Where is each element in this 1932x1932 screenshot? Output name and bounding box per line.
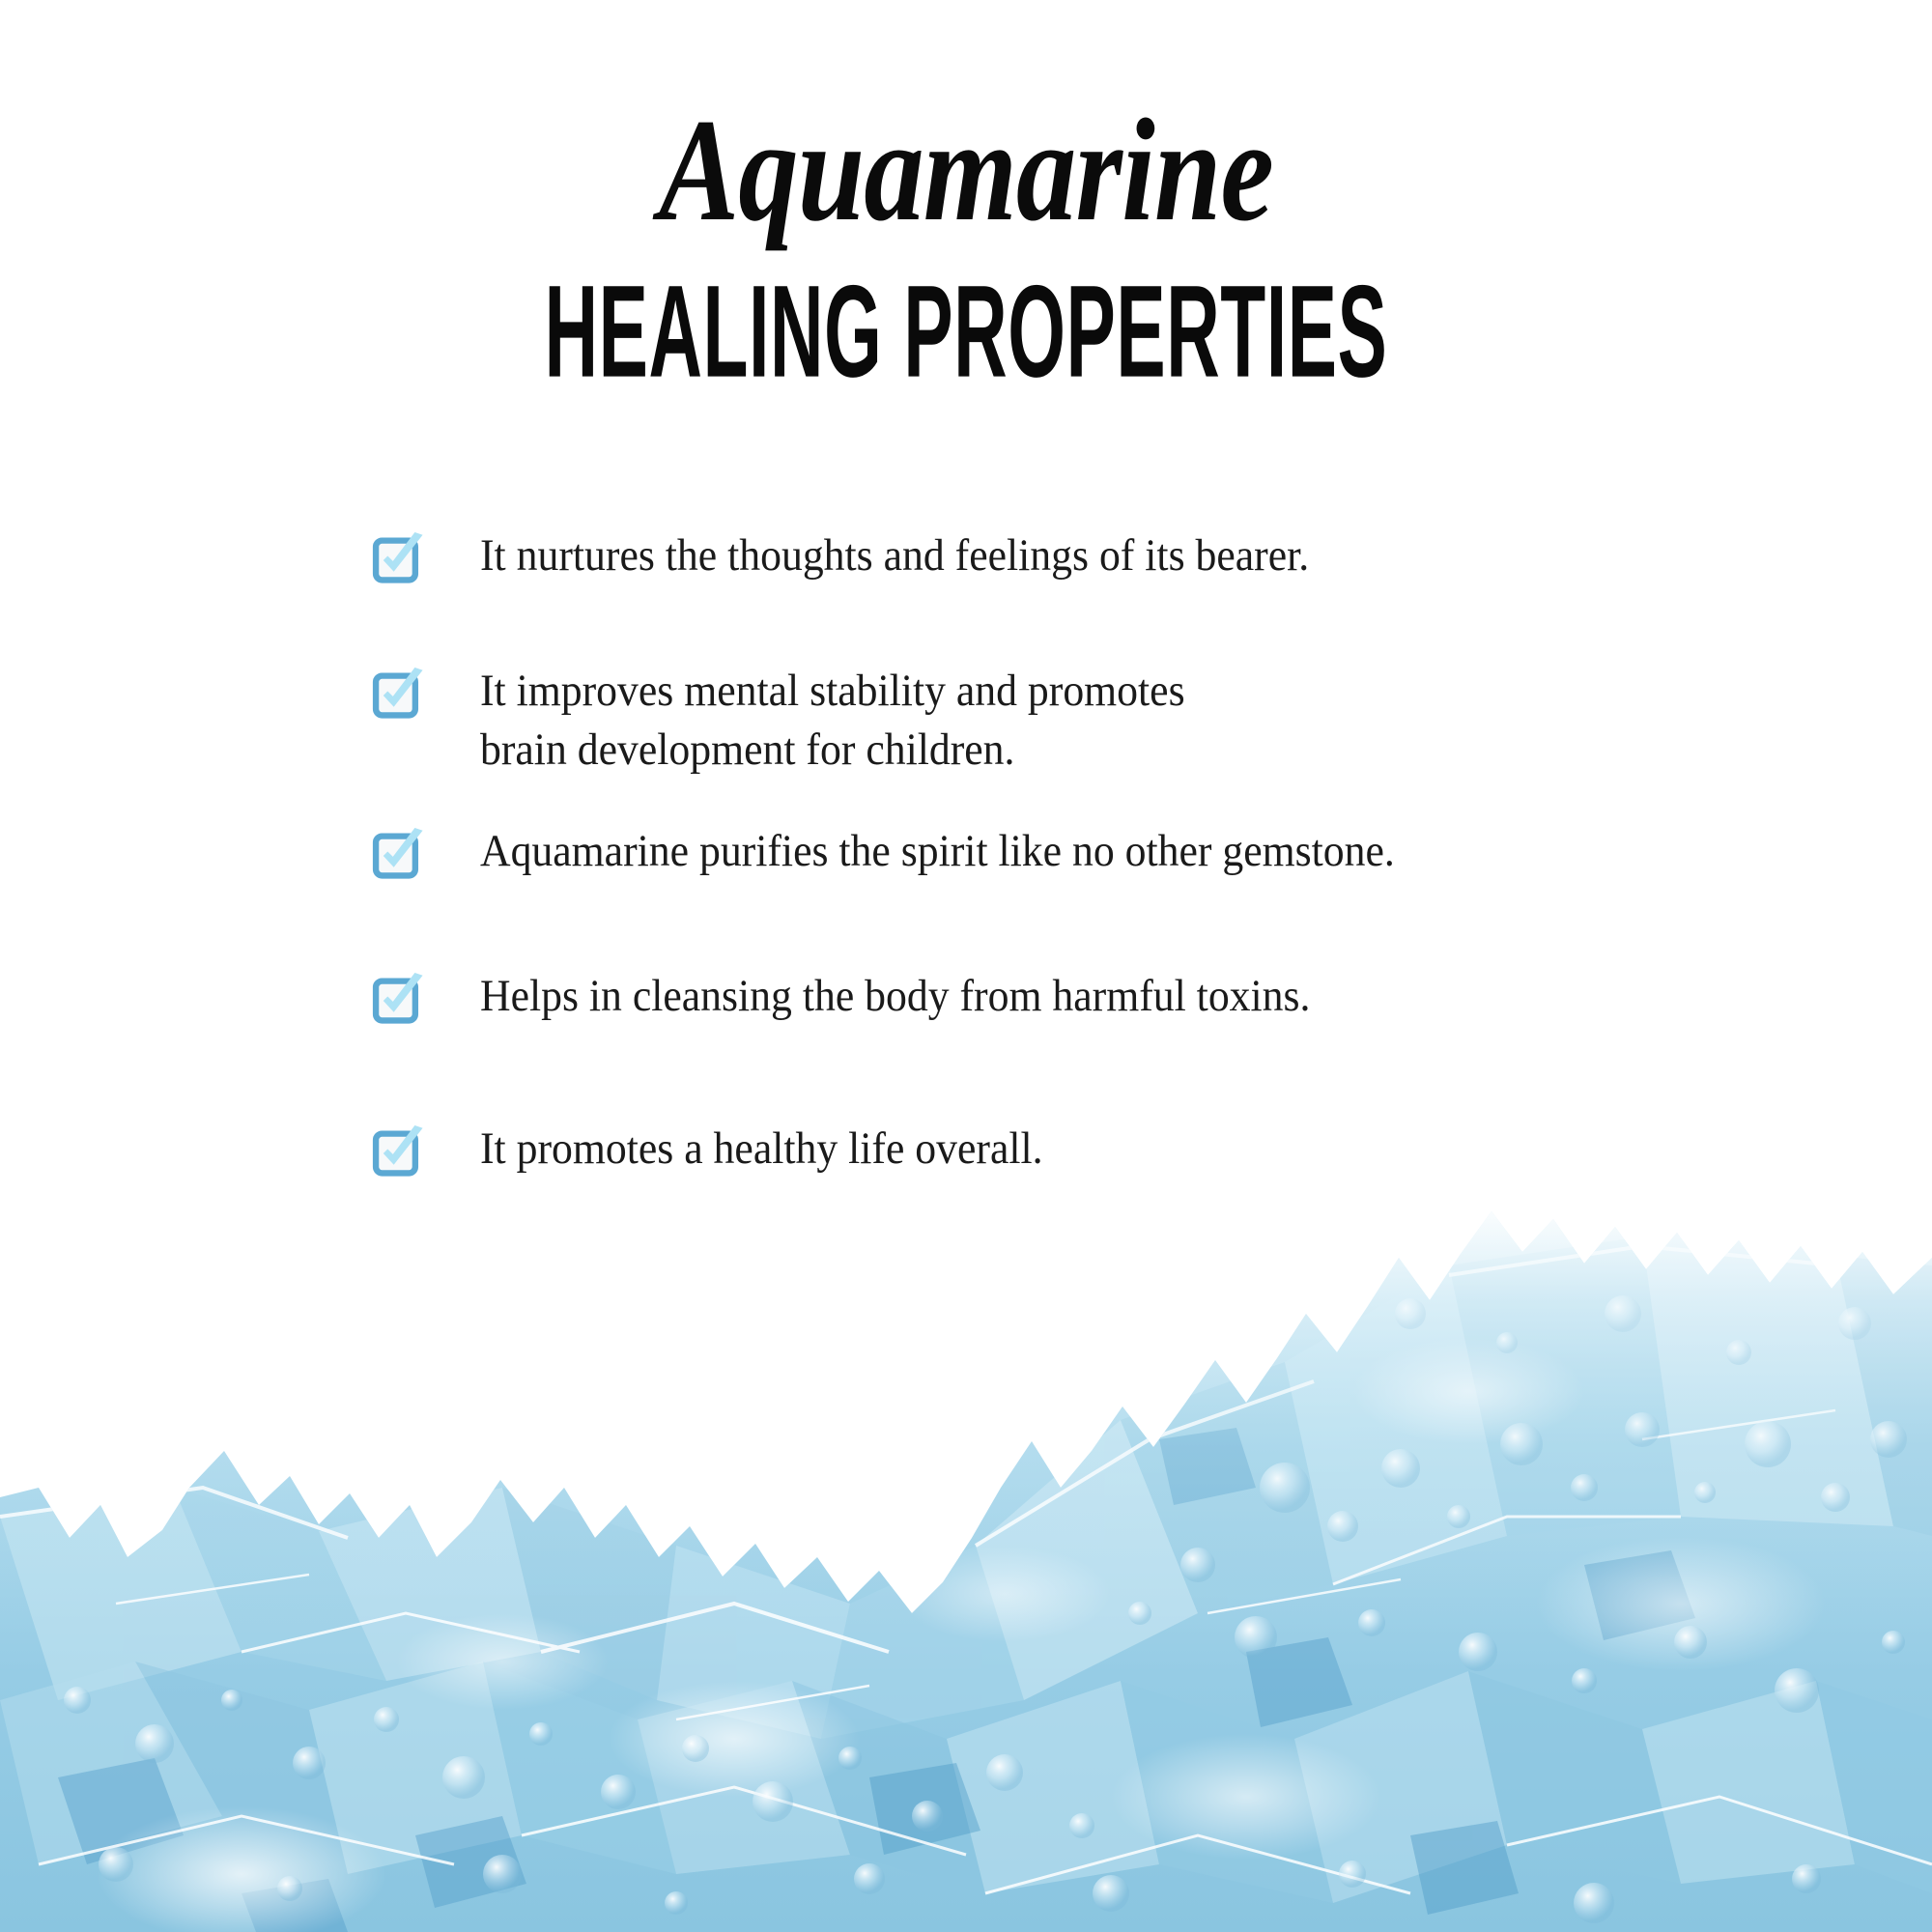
checked-checkbox-icon [372,668,428,724]
list-item-label: Helps in cleansing the body from harmful… [480,967,1727,1026]
list-item-label: It promotes a healthy life overall. [480,1120,1727,1179]
page-title: Aquamarine [174,97,1758,243]
checked-checkbox-icon [372,1125,428,1181]
list-item-label: Aquamarine purifies the spirit like no o… [480,822,1727,881]
checked-checkbox-icon [372,828,428,884]
checked-checkbox-icon [372,973,428,1029]
page-subtitle: HEALING PROPERTIES [386,267,1546,398]
list-item: It improves mental stability and promote… [372,662,1821,780]
healing-properties-list: It nurtures the thoughts and feelings of… [372,526,1821,1179]
list-item-label: It improves mental stability and promote… [480,662,1727,780]
header-block: Aquamarine HEALING PROPERTIES [0,97,1932,394]
ice-cubes-photo [0,1198,1932,1932]
list-item: Helps in cleansing the body from harmful… [372,967,1821,1027]
checked-checkbox-icon [372,532,428,588]
list-item: It promotes a healthy life overall. [372,1120,1821,1179]
list-item-label: It nurtures the thoughts and feelings of… [480,526,1727,585]
poster-canvas: Aquamarine HEALING PROPERTIES It nurture… [0,0,1932,1932]
list-item: It nurtures the thoughts and feelings of… [372,526,1821,586]
list-item: Aquamarine purifies the spirit like no o… [372,822,1821,882]
